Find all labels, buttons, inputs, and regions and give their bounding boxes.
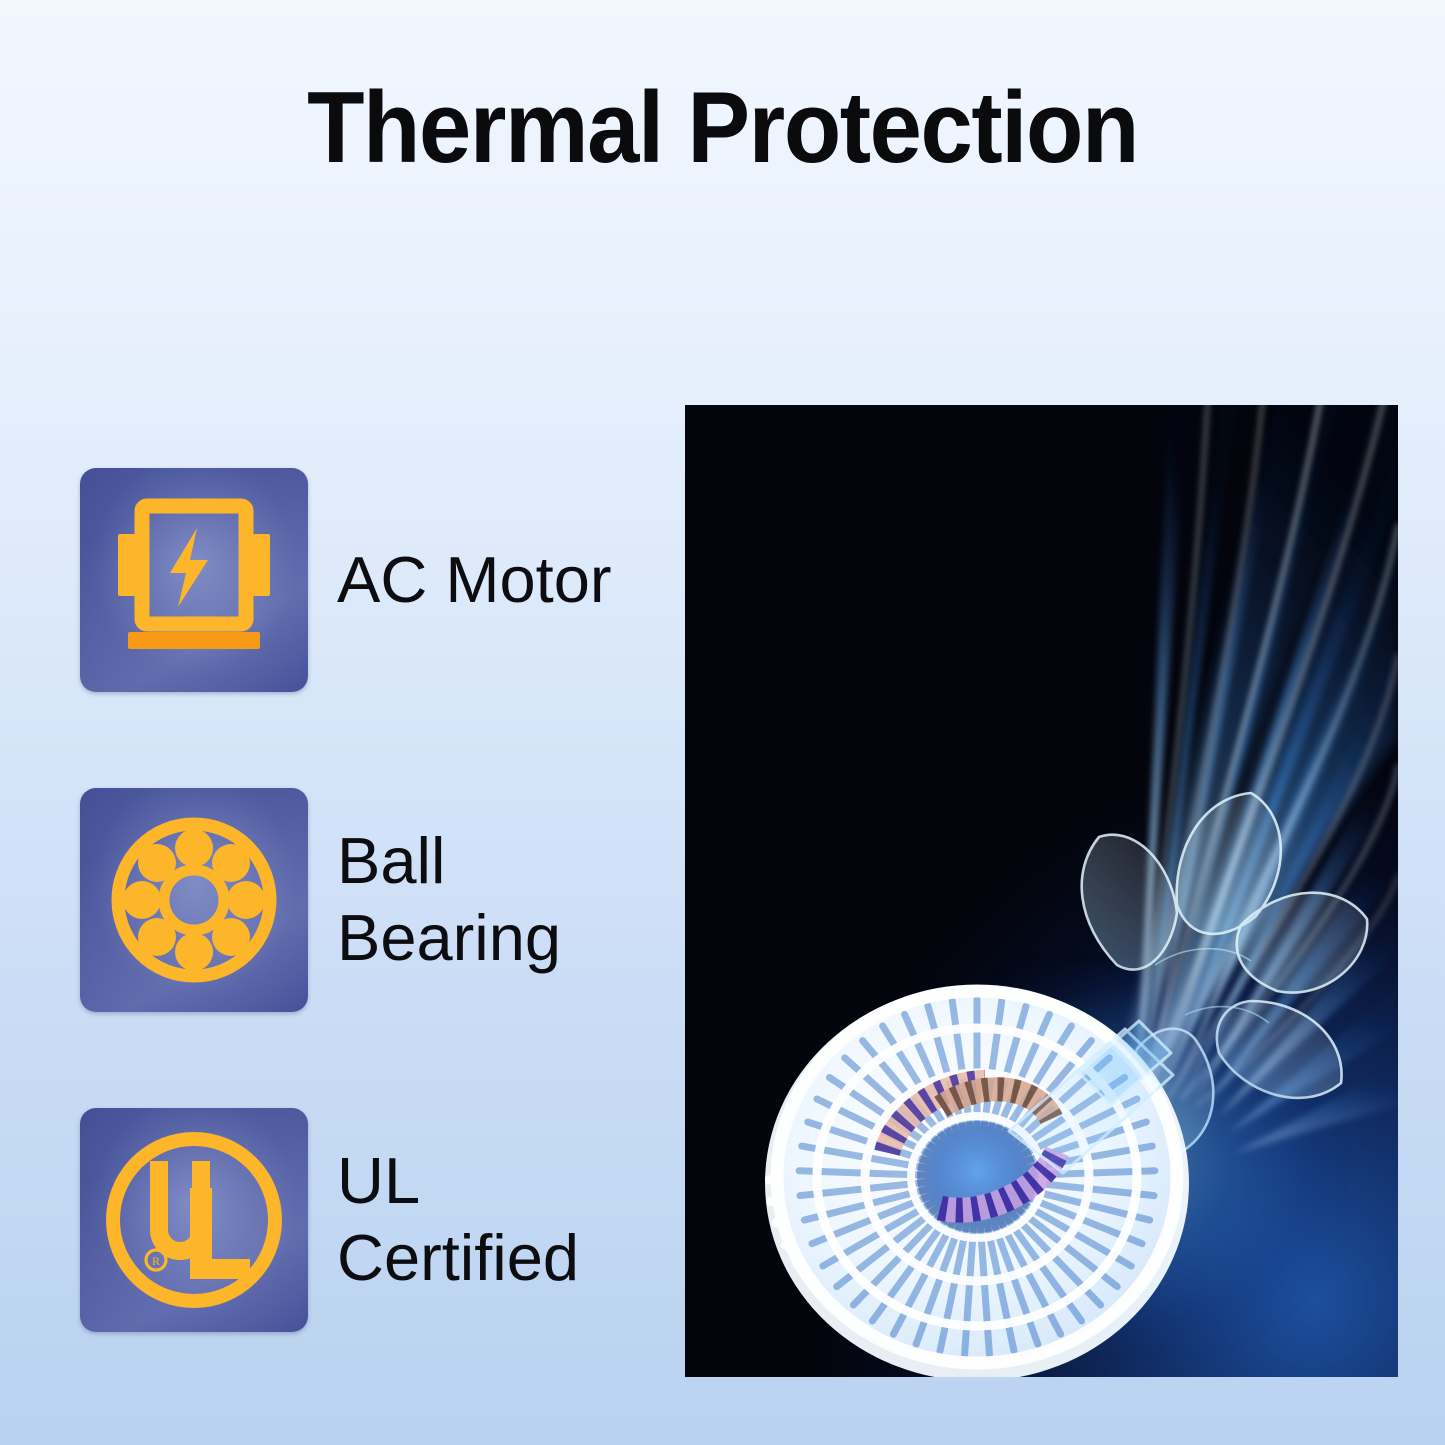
ac-motor-icon-tile <box>80 468 308 692</box>
feature-item-ac-motor: AC Motor <box>80 468 660 692</box>
product-image <box>685 405 1398 1377</box>
feature-item-ul-certified: R UL Certified <box>80 1108 660 1332</box>
page-title: Thermal Protection <box>51 78 1395 179</box>
ball-bearing-icon <box>80 788 308 1012</box>
fan-grille-motor <box>727 925 1227 1377</box>
feature-label-ac-motor: AC Motor <box>337 542 612 619</box>
svg-text:R: R <box>152 1254 160 1268</box>
ul-certified-icon: R <box>80 1108 308 1332</box>
ball-bearing-icon-tile <box>80 788 308 1012</box>
feature-label-ball-bearing: Ball Bearing <box>337 823 561 976</box>
feature-label-ul-certified: UL Certified <box>337 1143 579 1296</box>
ac-motor-icon <box>80 468 308 692</box>
feature-item-ball-bearing: Ball Bearing <box>80 788 660 1012</box>
ul-certified-icon-tile: R <box>80 1108 308 1332</box>
feature-list: AC Motor <box>80 468 660 1332</box>
